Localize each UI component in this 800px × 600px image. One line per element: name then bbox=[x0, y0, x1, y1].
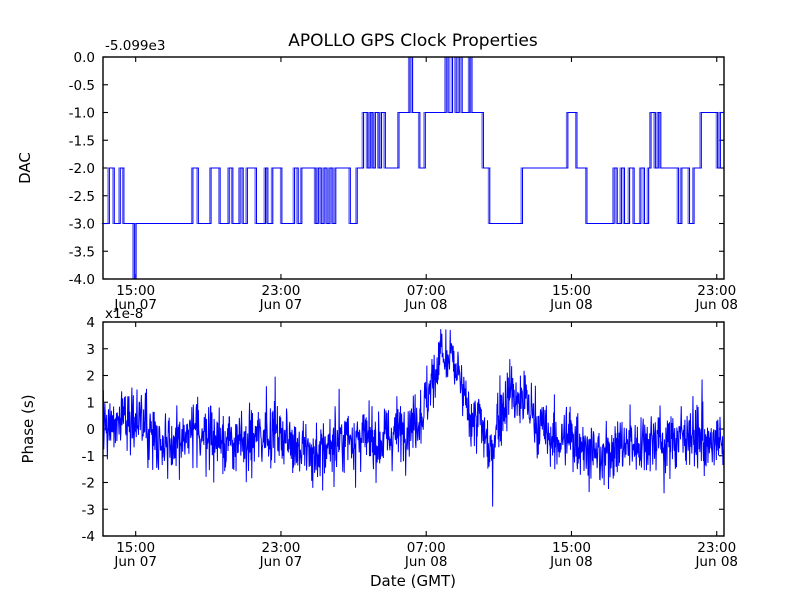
y-tick-label: 0.0 bbox=[74, 50, 95, 66]
y-tick-label: -0.5 bbox=[69, 78, 95, 94]
y-tick-label: 4 bbox=[86, 315, 95, 331]
y-tick-label: -1.0 bbox=[69, 106, 95, 122]
x-tick-label-date: Jun 07 bbox=[259, 554, 303, 570]
y-tick-label: -1 bbox=[82, 449, 95, 465]
y-tick-label: -2.5 bbox=[69, 189, 95, 205]
phase-y-axis-label: Phase (s) bbox=[19, 394, 37, 463]
page-title: APOLLO GPS Clock Properties bbox=[288, 31, 538, 51]
y-tick-label: -4.0 bbox=[69, 272, 95, 288]
figure-canvas: APOLLO GPS Clock Properties -5.099e3 0.0… bbox=[0, 0, 800, 600]
x-tick-label-date: Jun 07 bbox=[259, 297, 303, 313]
phase-x-axis-label: Date (GMT) bbox=[370, 572, 456, 590]
y-tick-label: -1.5 bbox=[69, 133, 95, 149]
dac-y-offset-text: -5.099e3 bbox=[105, 38, 165, 54]
y-tick-label: -2 bbox=[82, 476, 95, 492]
x-tick-label-date: Jun 08 bbox=[549, 554, 593, 570]
y-tick-label: -3.5 bbox=[69, 244, 95, 260]
y-tick-label: 1 bbox=[86, 395, 95, 411]
matplotlib-figure: APOLLO GPS Clock Properties -5.099e3 0.0… bbox=[0, 0, 800, 600]
y-tick-label: 3 bbox=[86, 342, 95, 358]
x-tick-label-date: Jun 08 bbox=[404, 554, 448, 570]
dac-y-axis-label: DAC bbox=[16, 152, 34, 184]
y-tick-label: -4 bbox=[82, 529, 95, 545]
y-tick-label: -3 bbox=[82, 502, 95, 518]
y-tick-label: -3.0 bbox=[69, 217, 95, 233]
x-tick-label-date: Jun 08 bbox=[694, 297, 738, 313]
x-tick-label-date: Jun 08 bbox=[404, 297, 448, 313]
x-tick-label-date: Jun 08 bbox=[694, 554, 738, 570]
y-tick-label: -2.0 bbox=[69, 161, 95, 177]
y-tick-label: 0 bbox=[86, 422, 95, 438]
phase-y-scale-text: x1e-8 bbox=[105, 306, 143, 322]
x-tick-label-date: Jun 07 bbox=[113, 554, 157, 570]
x-tick-label-date: Jun 08 bbox=[549, 297, 593, 313]
y-tick-label: 2 bbox=[86, 369, 95, 385]
